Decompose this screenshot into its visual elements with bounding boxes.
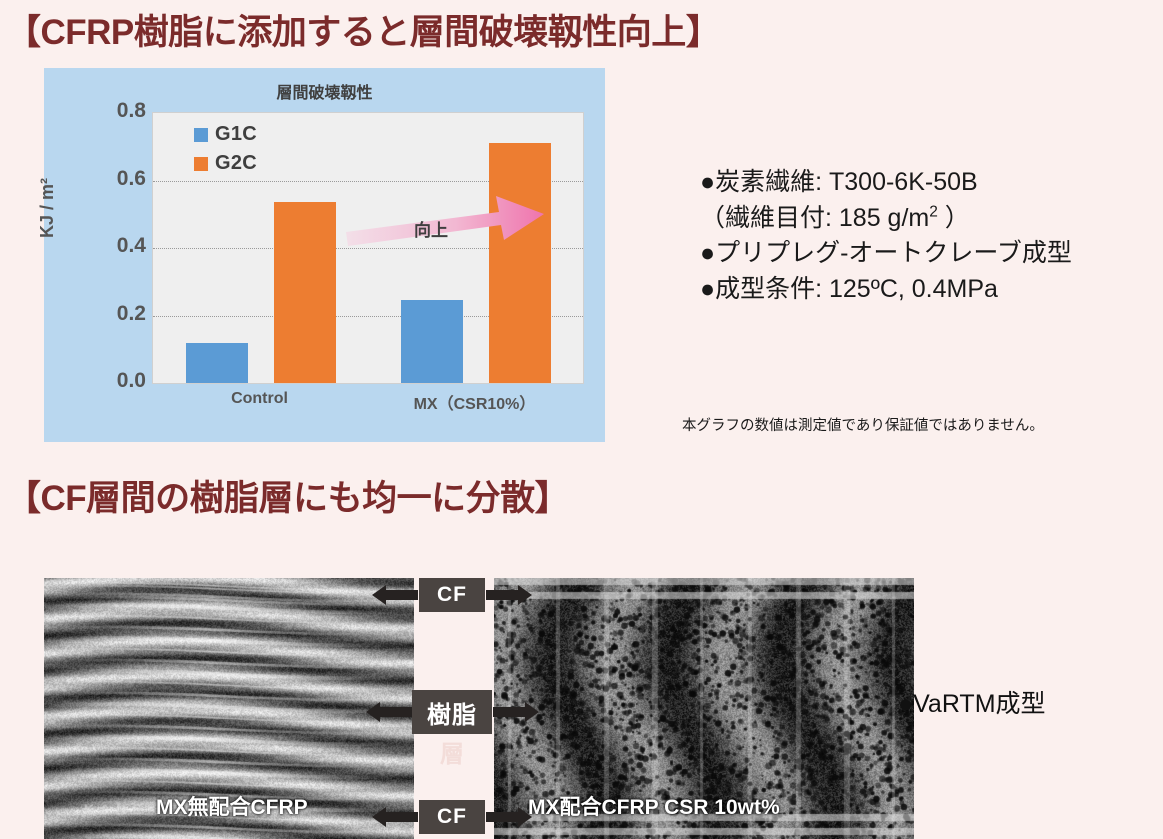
chart-legend-item-g2c[interactable]: G2C [194, 152, 257, 175]
process-info-list: ●炭素繊維: T300-6K-50B （繊維目付: 185 g/m2 ） ●プリ… [700, 165, 1160, 307]
sem-image-mx-free: KANEKA MX無配合CFRP [44, 578, 414, 839]
callout-cf-bottom: CF [419, 800, 485, 834]
info-areal-weight-prefix: （繊維目付: 185 g/m [700, 204, 929, 232]
arrow-left-cf-top-icon [372, 585, 418, 605]
chart-x-tick-label: MX（CSR10%） [365, 390, 585, 414]
page-title-section-2: 【CF層間の樹脂層にも均一に分散】 [6, 470, 569, 521]
chart-y-tick-label: 0.4 [80, 234, 146, 258]
sem-image-group: KANEKA MX無配合CFRP MX配合CFRP CSR 10wt% [44, 578, 1044, 839]
sem-image-mx-loaded: MX配合CFRP CSR 10wt% [494, 578, 914, 839]
arrow-left-resin-icon [366, 702, 412, 722]
info-line-carbon-fiber: ●炭素繊維: T300-6K-50B [700, 165, 1160, 201]
chart-y-tick-label: 0.2 [80, 302, 146, 326]
chart-bar-g2c-0 [274, 202, 336, 383]
arrow-right-cf-top-icon [486, 585, 532, 605]
sem-left-caption: MX無配合CFRP [156, 791, 308, 821]
chart-bar-g1c-0 [186, 343, 248, 384]
info-line-cure-conditions: ●成型条件: 125ºC, 0.4MPa [700, 272, 1160, 308]
info-line-prepreg: ●プリプレグ-オートクレーブ成型 [700, 236, 1160, 272]
legend-label: G1C [215, 123, 257, 146]
chart-y-tick-label: 0.8 [80, 99, 146, 123]
chart-y-axis-ticks: 0.00.20.40.60.8 [72, 112, 146, 384]
chart-bar-g2c-1 [489, 143, 551, 383]
chart-legend: G1CG2C [194, 123, 257, 181]
info-areal-weight-suffix: ） [938, 204, 970, 232]
vartm-note: ●VaRTM成型 [898, 684, 1046, 720]
chart-x-tick-label: Control [150, 390, 370, 408]
chart-bar-g1c-1 [401, 300, 463, 383]
sem-right-caption: MX配合CFRP CSR 10wt% [528, 791, 780, 821]
legend-swatch-icon [194, 128, 208, 142]
legend-label: G2C [215, 152, 257, 175]
disclaimer-note: 本グラフの数値は測定値であり保証値ではありません。 [682, 414, 1044, 435]
callout-cf-top: CF [419, 578, 485, 612]
arrow-left-cf-bottom-icon [372, 807, 418, 827]
chart-legend-item-g1c[interactable]: G1C [194, 123, 257, 146]
info-areal-weight-exponent: 2 [929, 203, 938, 220]
arrow-right-cf-bottom-icon [486, 807, 532, 827]
info-line-areal-weight: （繊維目付: 185 g/m2 ） [700, 201, 1160, 237]
arrow-right-resin-icon [493, 702, 539, 722]
improvement-annotation-label: 向上 [414, 216, 448, 241]
chart-y-tick-label: 0.6 [80, 167, 146, 191]
chart-y-tick-label: 0.0 [80, 369, 146, 393]
callout-resin-sublabel: 層 [412, 734, 492, 769]
legend-swatch-icon [194, 157, 208, 171]
callout-resin: 樹脂 [412, 690, 492, 734]
chart-panel: 層間破壊靱性 KJ / m² 0.00.20.40.60.8 G1CG2C 向上… [44, 68, 605, 442]
chart-y-axis-label: KJ / m² [37, 178, 58, 238]
page-title-section-1: 【CFRP樹脂に添加すると層間破壊靱性向上】 [6, 4, 720, 55]
